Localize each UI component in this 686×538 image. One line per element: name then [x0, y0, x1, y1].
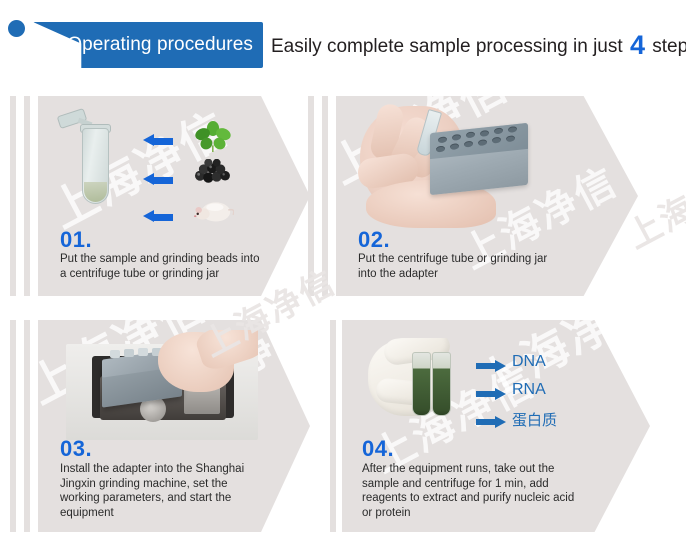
arrow-left-icon — [143, 210, 173, 223]
step-panel-1: 上海净信 — [10, 96, 310, 296]
panel-stripe — [10, 320, 16, 532]
step-panel-3: 上海净信 上海净信 03. Install the adapter into t… — [10, 320, 310, 532]
page-header: Operating procedures Easily complete sam… — [0, 0, 686, 84]
panel-stripe — [10, 96, 16, 296]
panel-stripe — [322, 96, 328, 296]
step-number: 03. — [60, 436, 92, 462]
arrow-right-icon — [476, 388, 506, 400]
arrow-right-icon — [476, 416, 506, 428]
step-description: Put the sample and grinding beads into a… — [60, 252, 260, 281]
output-label-rna: RNA — [512, 381, 546, 399]
subtitle-after: steps: — [652, 36, 686, 57]
tag-label: Operating procedures — [33, 22, 263, 68]
header-subtitle: Easily complete sample processing in jus… — [271, 28, 686, 64]
step-description: After the equipment runs, take out the s… — [362, 462, 578, 520]
adapter-block — [430, 123, 528, 195]
panel-stripe — [24, 320, 30, 532]
arrow-left-icon — [143, 134, 173, 147]
panel-stripe — [24, 96, 30, 296]
step-description: Install the adapter into the Shanghai Ji… — [60, 462, 266, 520]
step-panel-4: 上海净信 上海净信 DNA RNA 蛋白质 04. After the equi… — [330, 320, 650, 532]
step-number: 01. — [60, 227, 92, 253]
output-label-dna: DNA — [512, 353, 546, 371]
step-number: 02. — [358, 227, 390, 253]
sample-tubes-photo — [368, 338, 508, 422]
arrow-left-icon — [143, 173, 173, 186]
subtitle-before: Easily complete sample processing in jus… — [271, 36, 623, 57]
grinding-machine-photo — [66, 330, 258, 440]
panel-stripe — [330, 320, 336, 532]
adapter-photo — [352, 100, 572, 228]
arrow-right-icon — [476, 360, 506, 372]
step-description: Put the centrifuge tube or grinding jar … — [358, 252, 568, 281]
centrifuge-tube-icon — [68, 110, 128, 220]
operating-procedures-tag: Operating procedures — [33, 22, 263, 68]
step-number: 04. — [362, 436, 394, 462]
decorative-dot-icon — [8, 20, 25, 37]
sample-tube — [412, 352, 431, 416]
step-panel-2: 上海净信 上海净信 02 — [308, 96, 638, 296]
leaf-icon — [194, 120, 232, 152]
sample-tube — [432, 352, 451, 416]
panel-stripe — [308, 96, 314, 296]
grinding-beads-icon — [192, 159, 234, 185]
subtitle-step-count: 4 — [628, 30, 647, 60]
mouse-icon — [192, 198, 234, 224]
output-label-protein: 蛋白质 — [512, 409, 557, 430]
